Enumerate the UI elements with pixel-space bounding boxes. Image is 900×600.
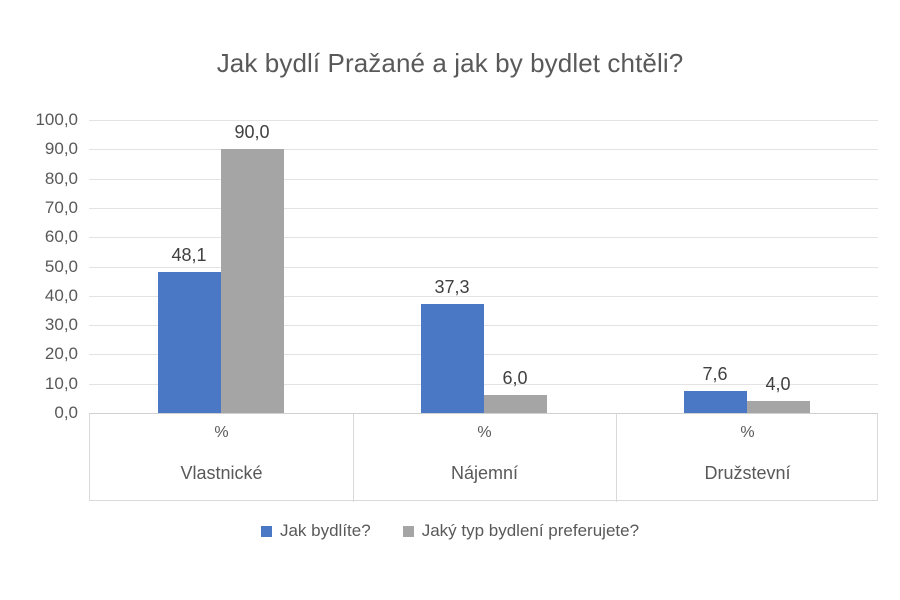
bar[interactable] [158, 272, 221, 413]
category-name-label: Družstevní [616, 463, 879, 484]
bar[interactable] [684, 391, 747, 413]
y-axis-tick-label: 70,0 [0, 198, 78, 218]
chart-legend: Jak bydlíte?Jaký typ bydlení preferujete… [0, 521, 900, 541]
y-axis-tick-label: 80,0 [0, 169, 78, 189]
category-group: %Nájemní [353, 414, 616, 502]
category-divider [616, 414, 617, 502]
bar[interactable] [221, 149, 284, 413]
bar[interactable] [484, 395, 547, 413]
legend-label: Jaký typ bydlení preferujete? [422, 521, 639, 541]
y-axis-tick-label: 10,0 [0, 374, 78, 394]
chart-title: Jak bydlí Pražané a jak by bydlet chtěli… [0, 48, 900, 79]
category-unit-label: % [616, 424, 879, 442]
legend-item[interactable]: Jak bydlíte? [261, 521, 371, 541]
category-name-label: Nájemní [353, 463, 616, 484]
bar[interactable] [421, 304, 484, 413]
category-group: %Družstevní [616, 414, 879, 502]
y-axis-tick-label: 0,0 [0, 403, 78, 423]
bar-value-label: 7,6 [702, 364, 727, 385]
category-unit-label: % [353, 424, 616, 442]
y-axis-tick-label: 30,0 [0, 315, 78, 335]
bar-value-label: 4,0 [765, 374, 790, 395]
legend-label: Jak bydlíte? [280, 521, 371, 541]
y-axis: 0,010,020,030,040,050,060,070,080,090,01… [0, 120, 78, 413]
bar[interactable] [747, 401, 810, 413]
category-divider [353, 414, 354, 502]
category-unit-label: % [90, 424, 353, 442]
y-axis-tick-label: 50,0 [0, 257, 78, 277]
category-group: %Vlastnické [90, 414, 353, 502]
y-axis-tick-label: 90,0 [0, 139, 78, 159]
bar-value-label: 90,0 [234, 122, 269, 143]
y-axis-tick-label: 20,0 [0, 344, 78, 364]
y-axis-tick-label: 60,0 [0, 227, 78, 247]
gridline [89, 179, 878, 180]
bar-value-label: 37,3 [434, 277, 469, 298]
legend-item[interactable]: Jaký typ bydlení preferujete? [403, 521, 639, 541]
gridline [89, 267, 878, 268]
gridline [89, 120, 878, 121]
bar-value-label: 48,1 [171, 245, 206, 266]
category-axis: %Vlastnické%Nájemní%Družstevní [89, 413, 878, 501]
gridline [89, 149, 878, 150]
category-name-label: Vlastnické [90, 463, 353, 484]
bar-value-label: 6,0 [502, 368, 527, 389]
plot-area: 48,190,037,36,07,64,0 [89, 120, 878, 413]
legend-swatch-icon [261, 526, 272, 537]
y-axis-tick-label: 100,0 [0, 110, 78, 130]
gridline [89, 208, 878, 209]
y-axis-tick-label: 40,0 [0, 286, 78, 306]
gridline [89, 237, 878, 238]
bar-chart: Jak bydlí Pražané a jak by bydlet chtěli… [0, 0, 900, 600]
legend-swatch-icon [403, 526, 414, 537]
